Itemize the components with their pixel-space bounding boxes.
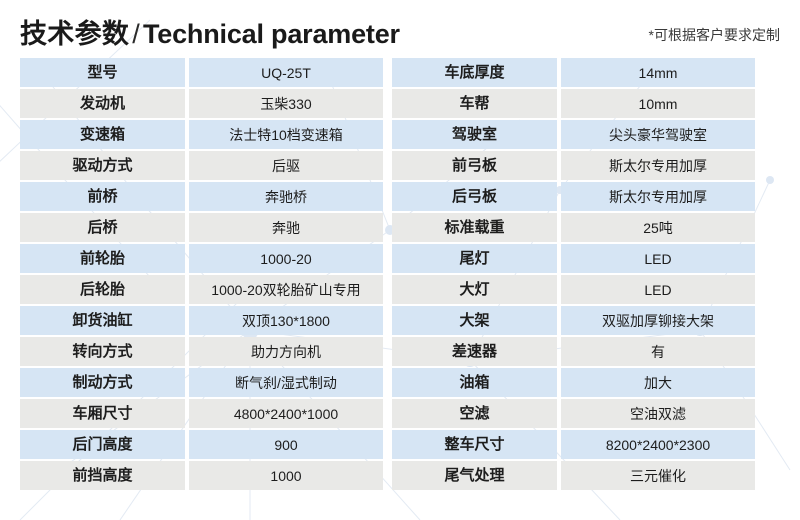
param-value: 尖头豪华驾驶室 — [561, 120, 755, 149]
table-row: 前轮胎1000-20 — [20, 244, 383, 273]
table-row: 后门高度900 — [20, 430, 383, 459]
param-value: 法士特10档变速箱 — [189, 120, 383, 149]
param-label: 卸货油缸 — [20, 306, 185, 335]
param-label: 空滤 — [392, 399, 557, 428]
table-row: 车帮10mm — [392, 89, 755, 118]
table-row: 驱动方式后驱 — [20, 151, 383, 180]
table-row: 整车尺寸8200*2400*2300 — [392, 430, 755, 459]
param-label: 变速箱 — [20, 120, 185, 149]
param-value: 1000-20 — [189, 244, 383, 273]
param-label: 型号 — [20, 58, 185, 87]
param-label: 后桥 — [20, 213, 185, 242]
param-value: 斯太尔专用加厚 — [561, 151, 755, 180]
param-label: 前弓板 — [392, 151, 557, 180]
table-row: 卸货油缸双顶130*1800 — [20, 306, 383, 335]
param-value: 空油双滤 — [561, 399, 755, 428]
param-label: 尾气处理 — [392, 461, 557, 490]
table-row: 后轮胎1000-20双轮胎矿山专用 — [20, 275, 383, 304]
param-value: 10mm — [561, 89, 755, 118]
page-title-chinese: 技术参数 — [20, 19, 129, 49]
param-label: 前桥 — [20, 182, 185, 211]
param-value: LED — [561, 244, 755, 273]
param-value: 后驱 — [189, 151, 383, 180]
table-row: 前挡高度1000 — [20, 461, 383, 490]
param-value: 玉柴330 — [189, 89, 383, 118]
param-value: 1000 — [189, 461, 383, 490]
customization-note: *可根据客户要求定制 — [649, 25, 780, 45]
param-value: 奔驰桥 — [189, 182, 383, 211]
table-row: 发动机玉柴330 — [20, 89, 383, 118]
table-row: 驾驶室尖头豪华驾驶室 — [392, 120, 755, 149]
param-label: 油箱 — [392, 368, 557, 397]
param-value: 有 — [561, 337, 755, 366]
table-row: 尾气处理三元催化 — [392, 461, 755, 490]
param-value: 双驱加厚铆接大架 — [561, 306, 755, 335]
param-label: 制动方式 — [20, 368, 185, 397]
param-value: 900 — [189, 430, 383, 459]
param-label: 车帮 — [392, 89, 557, 118]
param-value: 14mm — [561, 58, 755, 87]
table-row: 车厢尺寸4800*2400*1000 — [20, 399, 383, 428]
table-row: 制动方式断气刹/湿式制动 — [20, 368, 383, 397]
param-label: 标准载重 — [392, 213, 557, 242]
table-row: 油箱加大 — [392, 368, 755, 397]
table-row: 后弓板斯太尔专用加厚 — [392, 182, 755, 211]
table-row: 差速器有 — [392, 337, 755, 366]
param-value: 断气刹/湿式制动 — [189, 368, 383, 397]
page-title: 技术参数/Technical parameter — [20, 12, 400, 51]
param-value: UQ-25T — [189, 58, 383, 87]
param-value: 1000-20双轮胎矿山专用 — [189, 275, 383, 304]
param-value: 8200*2400*2300 — [561, 430, 755, 459]
param-label: 发动机 — [20, 89, 185, 118]
table-row: 大灯LED — [392, 275, 755, 304]
table-row: 转向方式助力方向机 — [20, 337, 383, 366]
table-row: 车底厚度14mm — [392, 58, 755, 87]
parameter-table-left: 型号UQ-25T发动机玉柴330变速箱法士特10档变速箱驱动方式后驱前桥奔驰桥后… — [20, 58, 383, 492]
param-value: 4800*2400*1000 — [189, 399, 383, 428]
param-value: 斯太尔专用加厚 — [561, 182, 755, 211]
param-value: 奔驰 — [189, 213, 383, 242]
table-row: 型号UQ-25T — [20, 58, 383, 87]
param-value: 助力方向机 — [189, 337, 383, 366]
param-label: 车厢尺寸 — [20, 399, 185, 428]
parameter-table-right: 车底厚度14mm车帮10mm驾驶室尖头豪华驾驶室前弓板斯太尔专用加厚后弓板斯太尔… — [392, 58, 755, 492]
table-row: 前桥奔驰桥 — [20, 182, 383, 211]
param-label: 整车尺寸 — [392, 430, 557, 459]
param-label: 大架 — [392, 306, 557, 335]
param-value: 双顶130*1800 — [189, 306, 383, 335]
param-label: 差速器 — [392, 337, 557, 366]
table-row: 后桥奔驰 — [20, 213, 383, 242]
param-value: 25吨 — [561, 213, 755, 242]
param-value: 加大 — [561, 368, 755, 397]
param-label: 驱动方式 — [20, 151, 185, 180]
param-label: 大灯 — [392, 275, 557, 304]
param-label: 尾灯 — [392, 244, 557, 273]
param-label: 前挡高度 — [20, 461, 185, 490]
page-title-english: Technical parameter — [143, 19, 400, 49]
page-header: 技术参数/Technical parameter *可根据客户要求定制 — [0, 0, 800, 58]
page-title-separator: / — [129, 19, 143, 49]
table-row: 尾灯LED — [392, 244, 755, 273]
param-label: 车底厚度 — [392, 58, 557, 87]
param-label: 驾驶室 — [392, 120, 557, 149]
param-label: 后轮胎 — [20, 275, 185, 304]
parameter-tables: 型号UQ-25T发动机玉柴330变速箱法士特10档变速箱驱动方式后驱前桥奔驰桥后… — [0, 58, 800, 494]
param-label: 转向方式 — [20, 337, 185, 366]
table-row: 空滤空油双滤 — [392, 399, 755, 428]
param-label: 后弓板 — [392, 182, 557, 211]
param-label: 后门高度 — [20, 430, 185, 459]
param-value: 三元催化 — [561, 461, 755, 490]
table-row: 前弓板斯太尔专用加厚 — [392, 151, 755, 180]
param-label: 前轮胎 — [20, 244, 185, 273]
param-value: LED — [561, 275, 755, 304]
table-row: 标准载重25吨 — [392, 213, 755, 242]
table-row: 变速箱法士特10档变速箱 — [20, 120, 383, 149]
table-row: 大架双驱加厚铆接大架 — [392, 306, 755, 335]
